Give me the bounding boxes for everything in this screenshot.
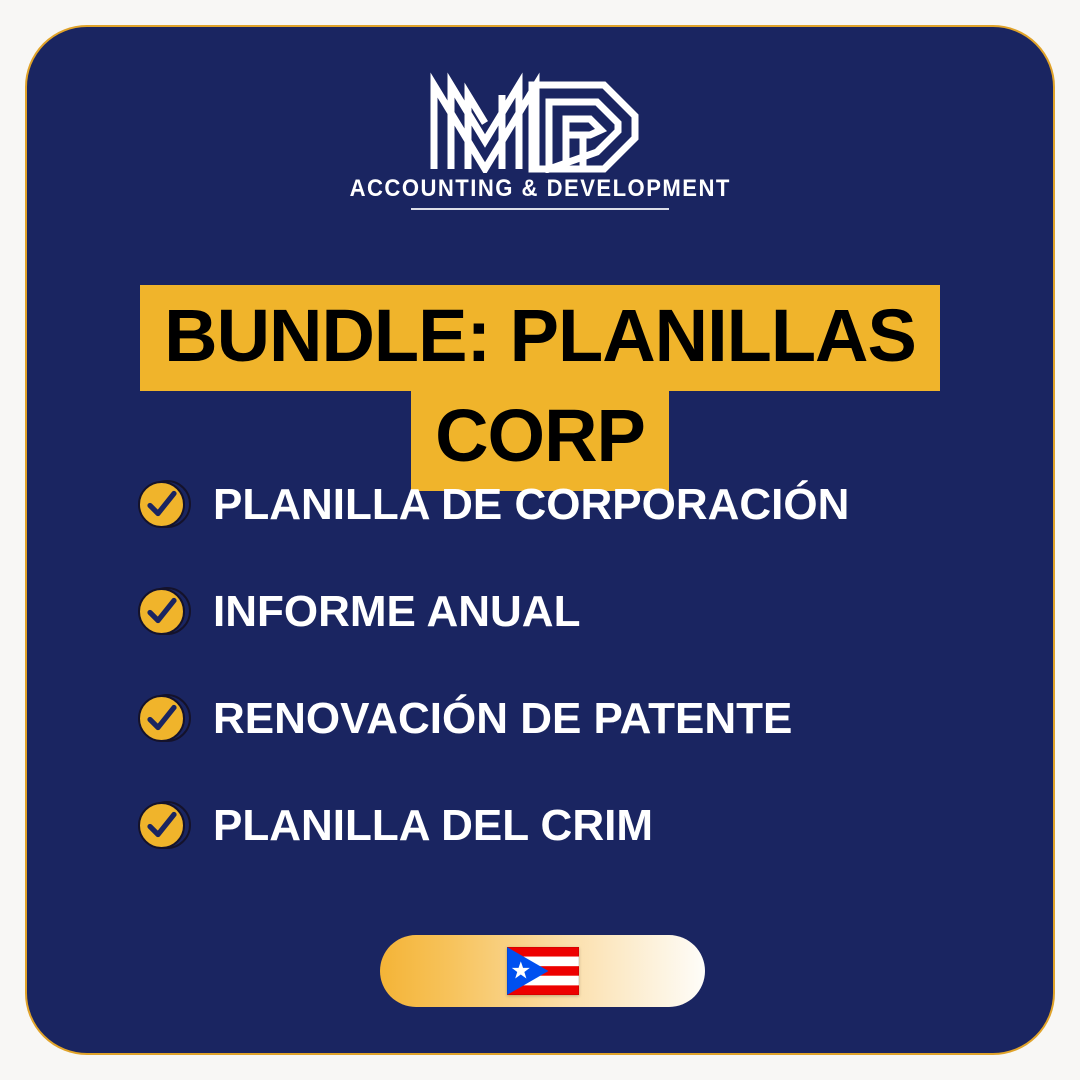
headline-line-1: BUNDLE: PLANILLAS <box>27 285 1053 391</box>
list-item: PLANILLA DE CORPORACIÓN <box>135 475 993 535</box>
logo-tagline: ACCOUNTING & DEVELOPMENT <box>349 177 730 201</box>
list-item: INFORME ANUAL <box>135 582 993 642</box>
feature-label: PLANILLA DEL CRIM <box>213 804 653 848</box>
feature-label: RENOVACIÓN DE PATENTE <box>213 697 792 741</box>
feature-label: PLANILLA DE CORPORACIÓN <box>213 483 849 527</box>
flag-pill-banner[interactable] <box>380 935 705 1007</box>
check-circle-icon <box>135 477 191 533</box>
brand-logo: ACCOUNTING & DEVELOPMENT <box>27 65 1053 210</box>
list-item: RENOVACIÓN DE PATENTE <box>135 689 993 749</box>
check-circle-icon <box>135 798 191 854</box>
feature-label: INFORME ANUAL <box>213 590 580 634</box>
headline-line-1-text: BUNDLE: PLANILLAS <box>140 285 940 391</box>
check-circle-icon <box>135 584 191 640</box>
check-circle-icon <box>135 691 191 747</box>
list-item: PLANILLA DEL CRIM <box>135 796 993 856</box>
promo-card: ACCOUNTING & DEVELOPMENT BUNDLE: PLANILL… <box>25 25 1055 1055</box>
logo-underline-divider <box>411 208 669 210</box>
logo-tagline-wrap: ACCOUNTING & DEVELOPMENT <box>333 177 747 210</box>
page-title: BUNDLE: PLANILLAS CORP <box>27 285 1053 491</box>
md-monogram-icon <box>428 65 652 173</box>
feature-list: PLANILLA DE CORPORACIÓN INFORME ANUAL RE… <box>135 475 993 903</box>
puerto-rico-flag-icon <box>507 947 579 995</box>
